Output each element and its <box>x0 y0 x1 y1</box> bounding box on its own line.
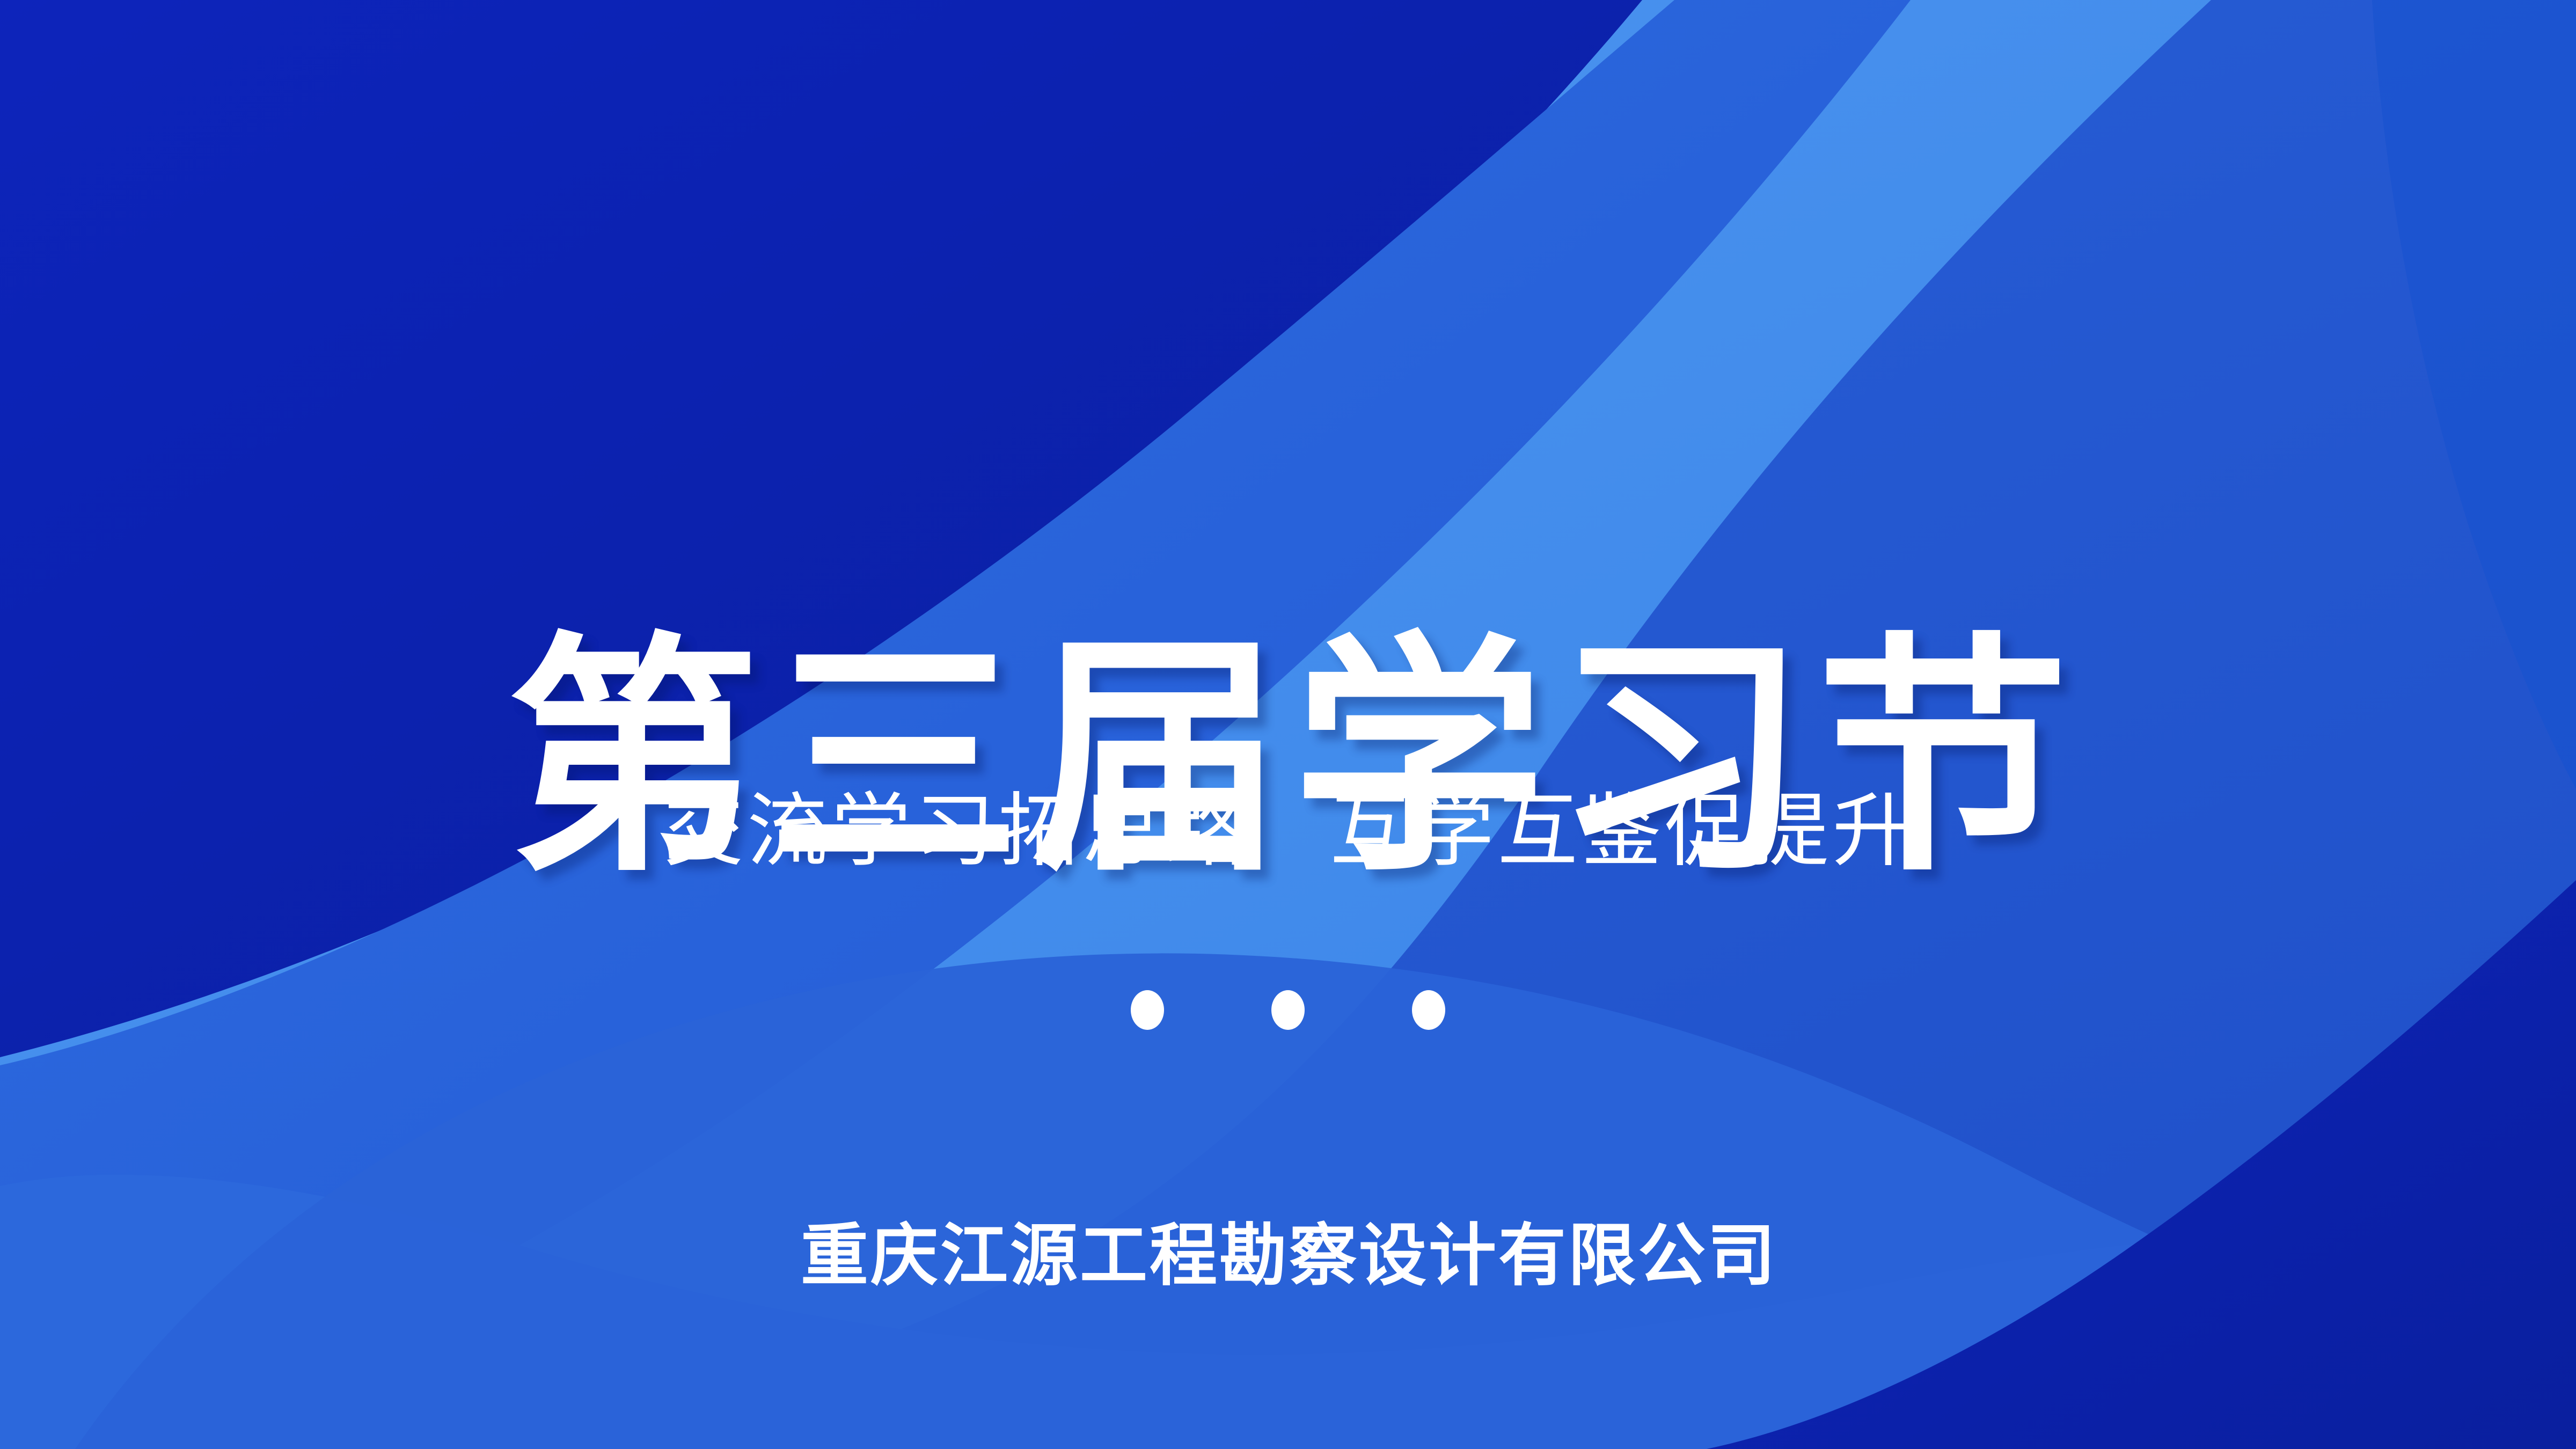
dot-separator <box>0 990 2576 1030</box>
subtitle-phrase-right: 互学互鉴促提升 <box>1330 786 1916 876</box>
subtitle-phrase-left: 交流学习拓思路 <box>663 786 1249 876</box>
separator-dot-2 <box>1271 990 1305 1030</box>
separator-dot-3 <box>1412 990 1445 1030</box>
subtitle: 交流学习拓思路互学互鉴促提升 <box>0 781 2576 882</box>
company-name: 重庆江源工程勘察设计有限公司 <box>0 1212 2576 1300</box>
poster-canvas: 第三届学习节 交流学习拓思路互学互鉴促提升 重庆江源工程勘察设计有限公司 <box>0 0 2576 1449</box>
separator-dot-1 <box>1131 990 1164 1030</box>
